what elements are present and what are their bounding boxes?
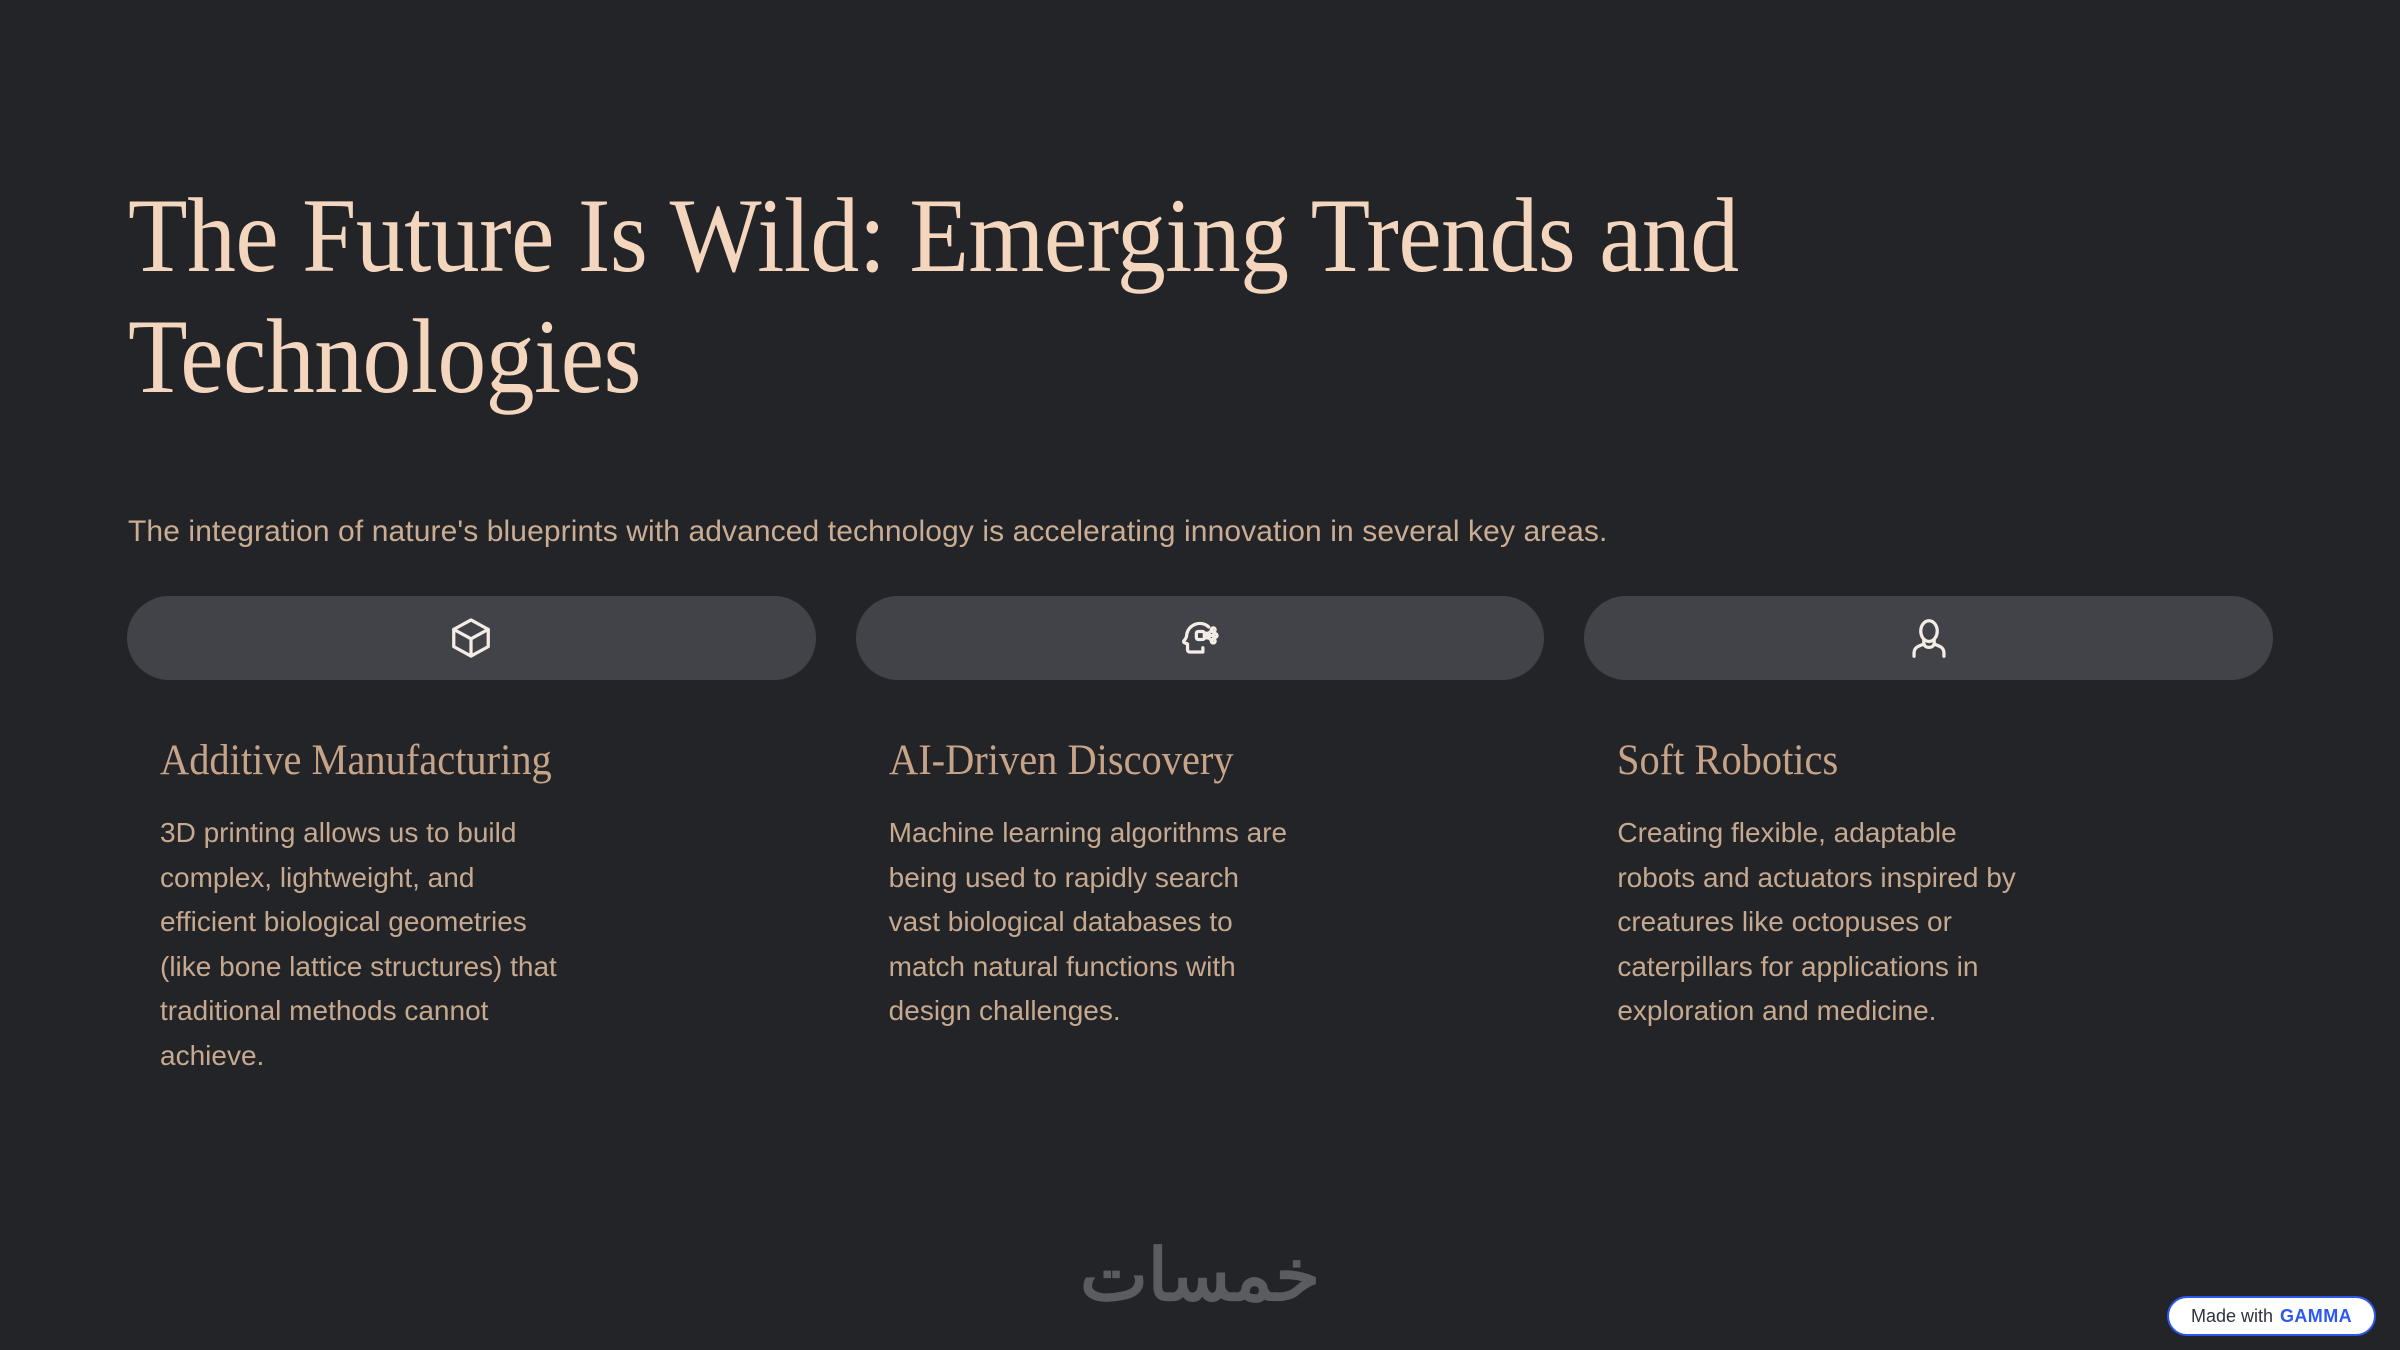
cube-icon [448,615,494,661]
card-body-1: Additive Manufacturing 3D printing allow… [127,680,816,1078]
page-subtitle: The integration of nature's blueprints w… [128,510,2228,554]
person-icon [1906,615,1952,661]
card-text-3: Creating flexible, adaptable robots and … [1617,811,2017,1034]
slide-root: The Future Is Wild: Emerging Trends and … [0,0,2400,1350]
made-with-gamma-badge[interactable]: Made with GAMMA [2167,1296,2376,1336]
card-title-1: Additive Manufacturing [160,737,758,784]
page-title: The Future Is Wild: Emerging Trends and … [128,176,1876,418]
ai-head-chip-icon [1177,615,1223,661]
icon-pill-1[interactable] [127,596,816,680]
card-body-3: Soft Robotics Creating flexible, adaptab… [1584,680,2273,1034]
badge-brand-label: GAMMA [2280,1306,2352,1327]
khamsat-watermark: خمسات [1080,1240,1320,1312]
badge-prefix-label: Made with [2191,1306,2273,1327]
card-additive-manufacturing[interactable]: Additive Manufacturing 3D printing allow… [127,596,816,1078]
icon-pill-2[interactable] [856,596,1545,680]
card-title-2: AI-Driven Discovery [889,737,1487,784]
card-grid: Additive Manufacturing 3D printing allow… [127,596,2273,1078]
icon-pill-3[interactable] [1584,596,2273,680]
card-title-3: Soft Robotics [1617,737,2215,784]
card-ai-driven-discovery[interactable]: AI-Driven Discovery Machine learning alg… [856,596,1545,1078]
card-text-2: Machine learning algorithms are being us… [889,811,1289,1034]
card-text-1: 3D printing allows us to build complex, … [160,811,560,1078]
card-soft-robotics[interactable]: Soft Robotics Creating flexible, adaptab… [1584,596,2273,1078]
card-body-2: AI-Driven Discovery Machine learning alg… [856,680,1545,1034]
